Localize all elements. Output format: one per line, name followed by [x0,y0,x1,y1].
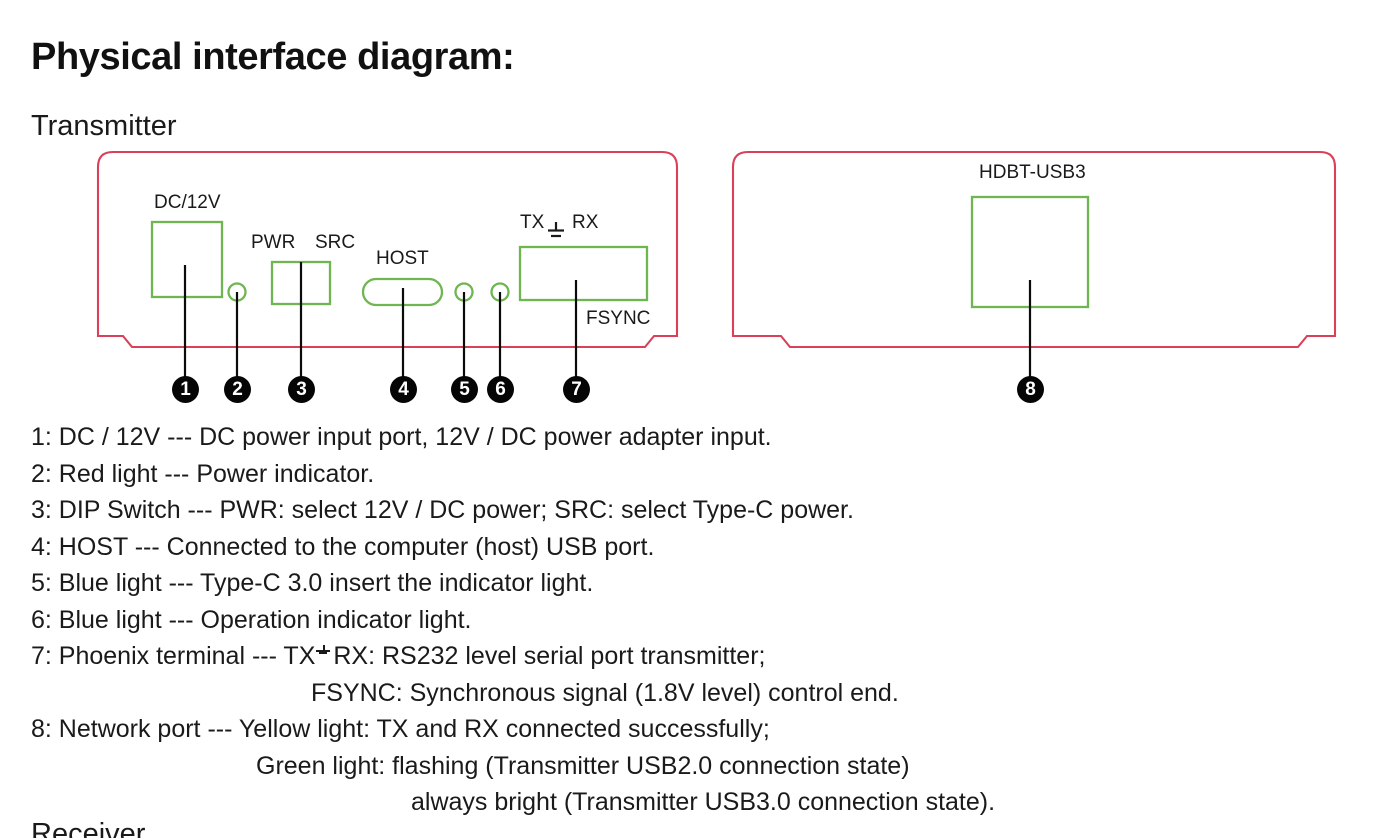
callout-4[interactable]: 4 [390,376,417,403]
legend-item-2: 2: Red light --- Power indicator. [31,456,1361,493]
legend-item-7-continuation: FSYNC: Synchronous signal (1.8V level) c… [31,675,1361,712]
earth-ground-icon-inline [315,638,333,663]
port-label-host: HOST [376,248,429,270]
port-label-dc12v: DC/12V [154,192,221,214]
callout-8[interactable]: 8 [1017,376,1044,403]
diagram-svg [0,140,1390,405]
port-phoenix-terminal[interactable] [520,247,647,300]
page-root: Physical interface diagram: Transmitter [0,0,1390,838]
callout-6[interactable]: 6 [487,376,514,403]
callout-5[interactable]: 5 [451,376,478,403]
physical-interface-diagram: DC/12V PWR SRC HOST TX RX FSYNC HDBT-USB… [0,140,1390,405]
callout-1[interactable]: 1 [172,376,199,403]
legend-item-8-line3: always bright (Transmitter USB3.0 connec… [31,784,1361,821]
earth-ground-icon [548,222,564,236]
legend-item-7-prefix: 7: Phoenix terminal --- TX [31,642,315,670]
legend-item-7-suffix: RX: RS232 level serial port transmitter; [333,642,765,670]
port-label-src: SRC [315,232,355,254]
legend-item-4: 4: HOST --- Connected to the computer (h… [31,529,1361,566]
port-label-fsync: FSYNC [586,308,650,330]
legend-item-7: 7: Phoenix terminal --- TX RX: RS232 lev… [31,638,1361,675]
legend-item-1: 1: DC / 12V --- DC power input port, 12V… [31,419,1361,456]
section-heading-transmitter: Transmitter [31,110,177,143]
callout-7[interactable]: 7 [563,376,590,403]
port-label-tx: TX [520,212,544,234]
legend-item-8: 8: Network port --- Yellow light: TX and… [31,711,1361,748]
port-dc12v[interactable] [152,222,222,297]
legend-list: 1: DC / 12V --- DC power input port, 12V… [31,419,1361,821]
port-label-rx: RX [572,212,598,234]
legend-item-5: 5: Blue light --- Type-C 3.0 insert the … [31,565,1361,602]
page-title: Physical interface diagram: [31,36,514,79]
callout-3[interactable]: 3 [288,376,315,403]
section-heading-receiver: Receiver [31,818,145,838]
port-label-hdbt-usb3: HDBT-USB3 [979,162,1086,184]
callout-2[interactable]: 2 [224,376,251,403]
legend-item-3: 3: DIP Switch --- PWR: select 12V / DC p… [31,492,1361,529]
port-label-pwr: PWR [251,232,295,254]
legend-item-8-line2: Green light: flashing (Transmitter USB2.… [31,748,1361,785]
legend-item-6: 6: Blue light --- Operation indicator li… [31,602,1361,639]
